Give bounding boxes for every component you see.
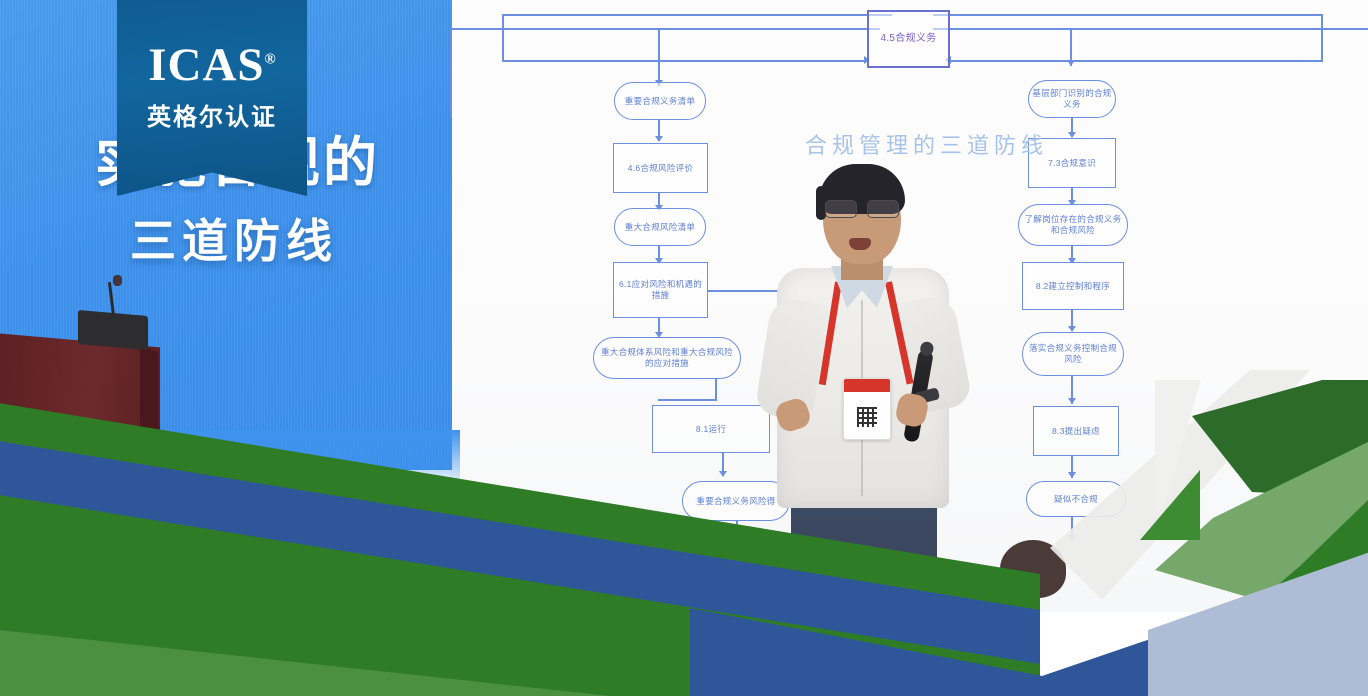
flow-node-right-3: 8.2建立控制和程序 (1022, 262, 1124, 310)
flow-rail-top-left (502, 14, 892, 16)
flow-conn-l4-over (658, 399, 716, 401)
flow-arrow-l5-l6 (719, 471, 727, 477)
qr-code-icon (857, 407, 877, 427)
flow-node-right-5: 8.3提出疑虑 (1033, 406, 1119, 456)
flow-rail-left-down (502, 14, 504, 62)
speaker-badge (843, 378, 891, 440)
flow-node-left-2: 重大合规风险清单 (614, 208, 706, 246)
badge-header-strip (844, 379, 890, 392)
flow-node-center-45: 4.5合规义务 (867, 10, 950, 68)
icas-brand-text: ICAS (148, 39, 264, 91)
icas-brand-chinese: 英格尔认证 (117, 97, 307, 132)
led-headline-main: 三道防线 (130, 205, 470, 271)
icas-wordmark: ICAS® (117, 42, 307, 89)
flow-rail-mid-right (933, 28, 1368, 30)
flow-rail-left-in (502, 60, 868, 62)
flow-rail-right-down (1321, 14, 1323, 62)
flow-rail-right-in (950, 60, 1321, 62)
flow-node-left-0: 重要合规义务清单 (614, 82, 706, 120)
podium-microphone-head-icon (113, 275, 122, 286)
podium-top-console (78, 310, 148, 350)
flow-node-right-0: 基层部门识别的合规义务 (1028, 80, 1116, 118)
flow-conn-l4-down (715, 379, 717, 401)
flow-arrow-r5-r6 (1068, 472, 1076, 478)
flow-node-left-4: 重大合规体系风险和重大合规风险的应对措施 (593, 337, 741, 379)
flow-node-right-4: 落实合规义务控制合规风险 (1022, 332, 1124, 376)
flow-node-left-5: 8.1运行 (652, 405, 770, 453)
speaker-glasses-icon (823, 200, 901, 216)
flow-rail-left-branch (658, 28, 660, 86)
flow-rail-top-right (933, 14, 1323, 16)
presentation-screenshot: 实施合规的 三道防线 ICAS® 英格尔认证 4 (0, 0, 1368, 696)
flow-rail-mid-left (450, 28, 880, 30)
flow-node-right-2: 了解岗位存在的合规义务和合规风险 (1018, 204, 1128, 246)
flow-node-left-3: 6.1应对风险和机遇的措施 (613, 262, 708, 318)
speaker-mouth (849, 238, 871, 250)
flow-arrow-l0-l1 (655, 136, 663, 142)
flow-rail-far-left (450, 28, 452, 118)
flow-arrow-r4-r5 (1068, 398, 1076, 404)
registered-mark-icon: ® (265, 51, 276, 67)
flow-arrow-right-branch (1067, 60, 1075, 66)
flow-node-left-1: 4.6合规风险评价 (613, 143, 708, 193)
